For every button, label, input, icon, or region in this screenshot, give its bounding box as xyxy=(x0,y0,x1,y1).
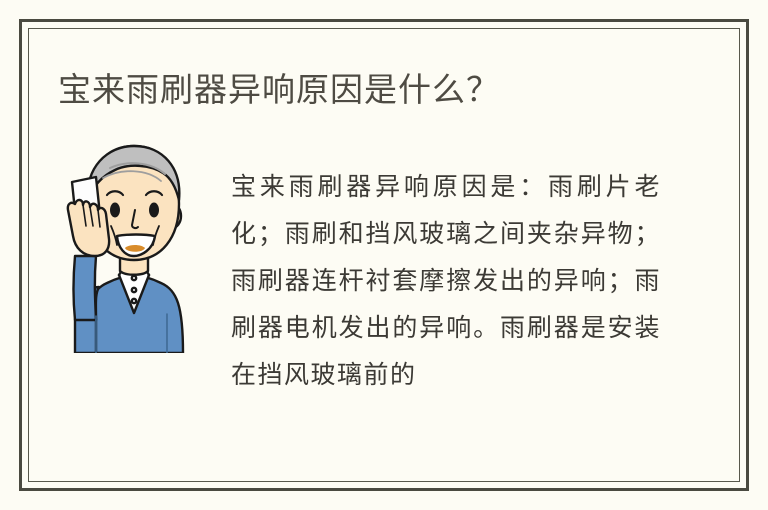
article-body-text: 宝来雨刷器异响原因是：雨刷片老化；雨刷和挡风玻璃之间夹杂异物；雨刷器连杆衬套摩擦… xyxy=(231,163,661,398)
page-title: 宝来雨刷器异响原因是什么？ xyxy=(58,70,500,110)
elderly-man-on-phone-illustration xyxy=(55,138,205,353)
article-page: 宝来雨刷器异响原因是什么？ xyxy=(0,0,768,510)
